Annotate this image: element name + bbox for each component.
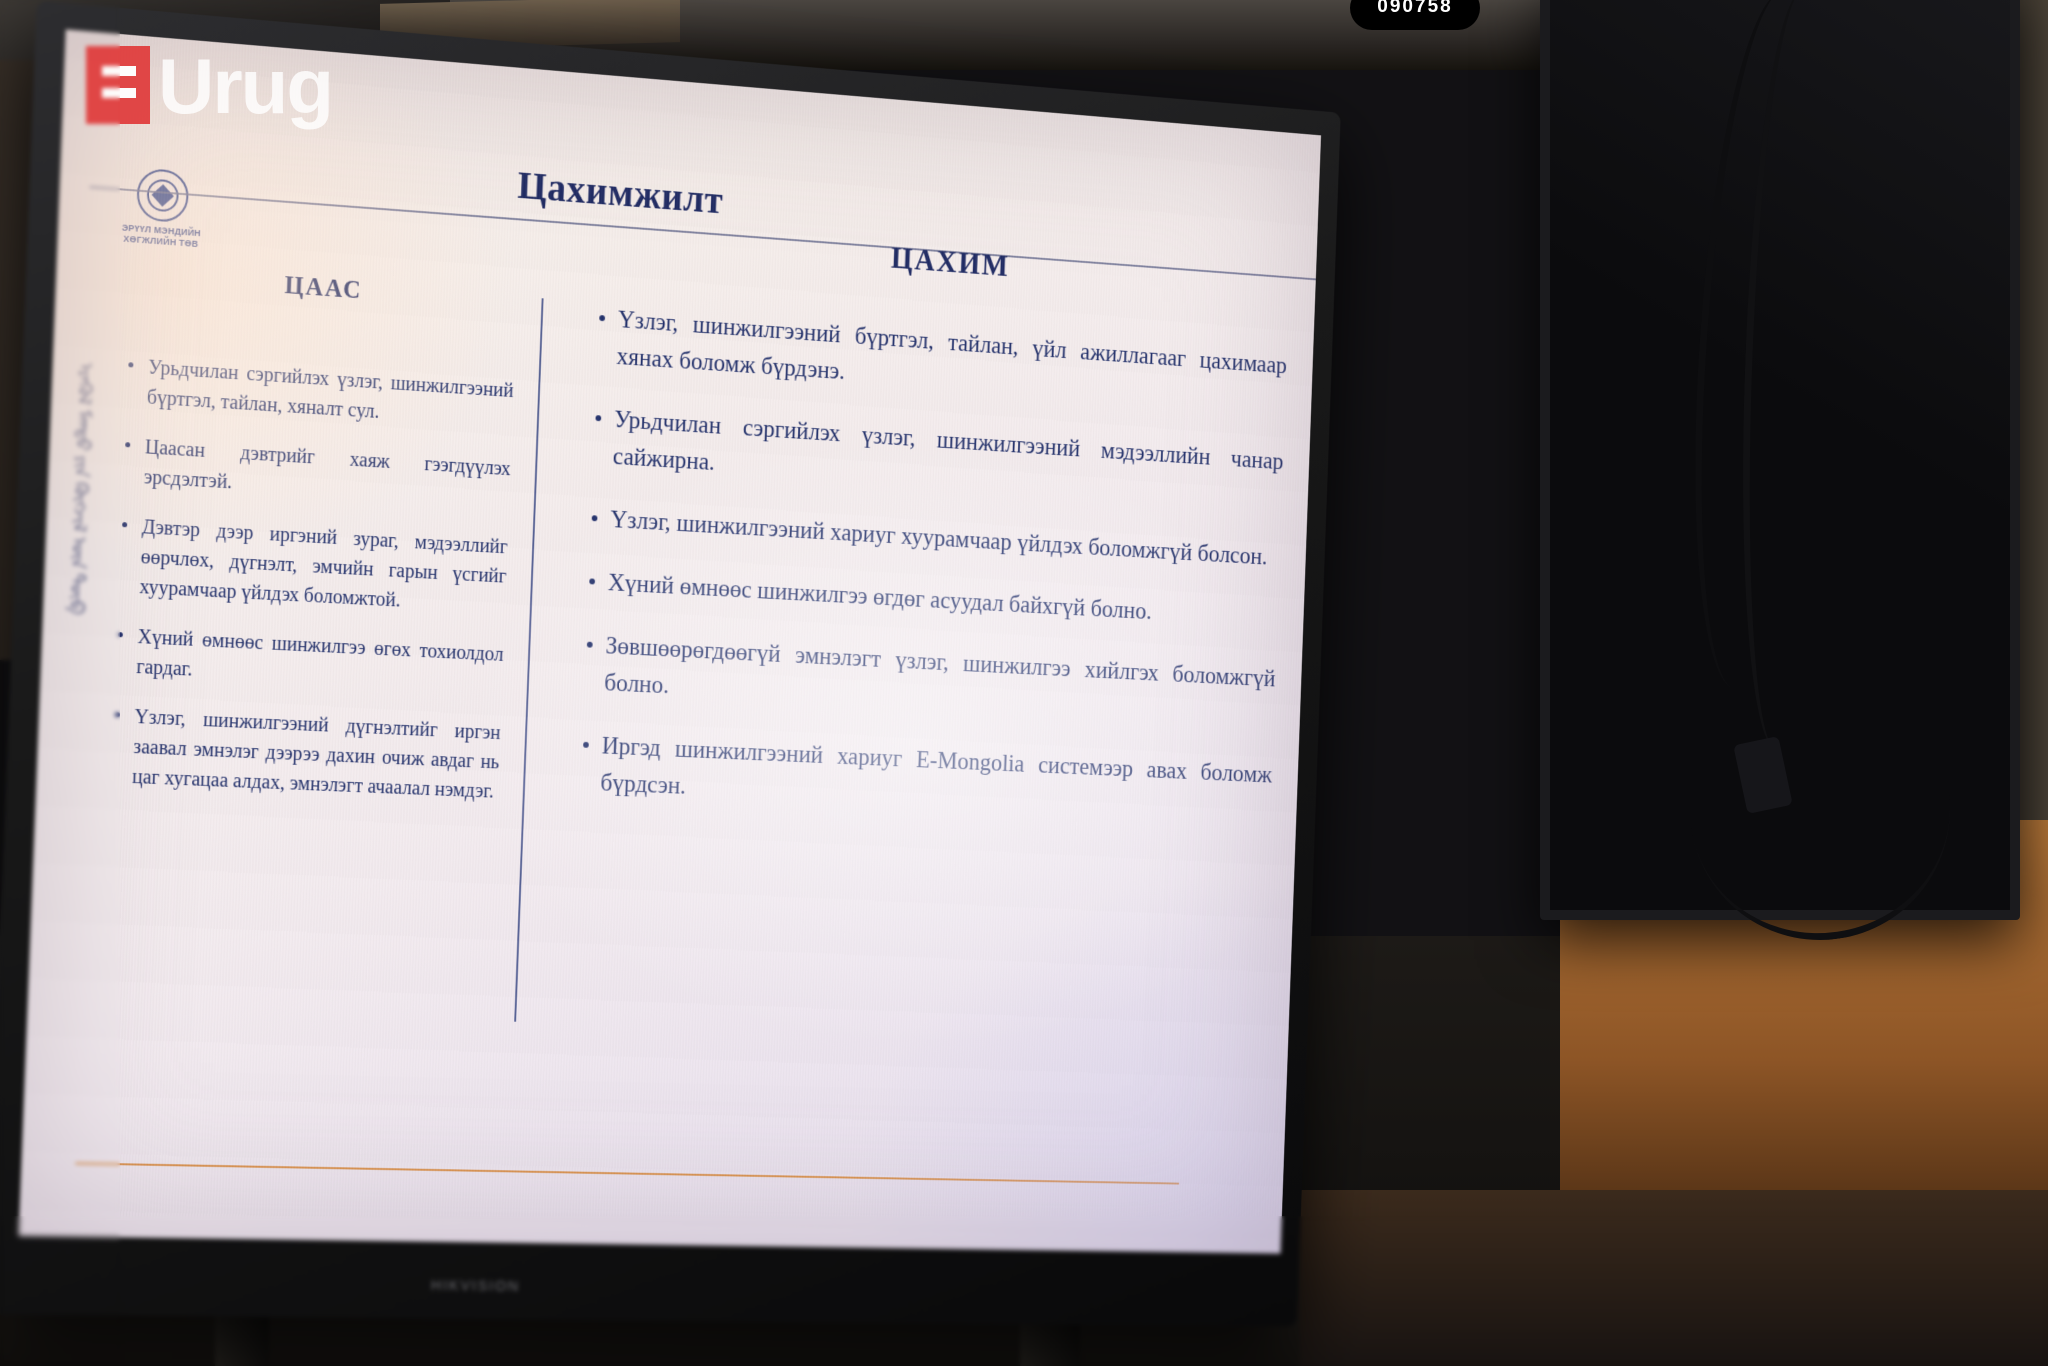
paper-column-heading: ЦААС	[125, 261, 517, 316]
list-item: Үзлэг, шинжилгээний дүгнэлтийг иргэн заа…	[106, 700, 501, 807]
slide-footer-accent	[75, 1162, 1179, 1184]
display-bezel: ЭРҮҮЛ МЭНДИЙН ХӨГЖЛИЙН ТӨВ Цахимжилт ᠡᠷᠡ…	[0, 1, 1341, 1327]
timestamp-badge: 090758	[1350, 0, 1480, 30]
list-item: Үзлэг, шинжилгээний бүртгэл, тайлан, үйл…	[592, 300, 1288, 420]
main-display: ЭРҮҮЛ МЭНДИЙН ХӨГЖЛИЙН ТӨВ Цахимжилт ᠡᠷᠡ…	[0, 0, 1520, 1366]
list-item: Үзлэг, шинжилгээний хариуг хуурамчаар үй…	[585, 500, 1280, 576]
org-emblem-icon	[136, 168, 189, 224]
list-item: Хүний өмнөөс шинжилгээ өгөх тохиолдол га…	[110, 620, 504, 699]
display-brand-label: HIKVISION	[408, 1277, 542, 1298]
list-item: Иргэд шинжилгээний хариуг E-Mongolia сис…	[575, 727, 1272, 829]
list-item: Цаасан дэвтрийг хаяж гээгдүүлэх эрсдэлтэ…	[118, 431, 512, 514]
list-item: Зөвшөөрөгдөөгүй эмнэлэгт үзлэг, шинжилгэ…	[579, 627, 1276, 733]
digital-column: ЦАХИМ Үзлэг, шинжилгээний бүртгэл, тайла…	[511, 248, 1289, 1164]
digital-column-heading: ЦАХИМ	[596, 218, 1290, 304]
paper-column: ЦААС Урьдчилан сэргийлэх үзлэг, шинжилгэ…	[92, 217, 543, 1149]
list-item: Хүний өмнөөс шинжилгээ өгдөг асуудал бай…	[583, 563, 1278, 637]
list-item: Дэвтэр дээр иргэний зураг, мэдээллийг өө…	[113, 510, 508, 621]
slide-columns: ЦААС Урьдчилан сэргийлэх үзлэг, шинжилгэ…	[92, 217, 1289, 1164]
screenshot-root: ЭРҮҮЛ МЭНДИЙН ХӨГЖЛИЙН ТӨВ Цахимжилт ᠡᠷᠡ…	[0, 0, 2048, 1366]
digital-bullet-list: Үзлэг, шинжилгээний бүртгэл, тайлан, үйл…	[575, 300, 1287, 829]
list-item: Урьдчилан сэргийлэх үзлэг, шинжилгээний …	[588, 400, 1284, 516]
list-item: Урьдчилан сэргийлэх үзлэг, шинжилгээний …	[121, 351, 514, 436]
paper-bullet-list: Урьдчилан сэргийлэх үзлэг, шинжилгээний …	[106, 351, 514, 808]
display-screen: ЭРҮҮЛ МЭНДИЙН ХӨГЖЛИЙН ТӨВ Цахимжилт ᠡᠷᠡ…	[19, 29, 1322, 1253]
slide-title: Цахимжилт	[517, 162, 724, 223]
presentation-slide: ЭРҮҮЛ МЭНДИЙН ХӨГЖЛИЙН ТӨВ Цахимжилт ᠡᠷᠡ…	[19, 29, 1322, 1253]
